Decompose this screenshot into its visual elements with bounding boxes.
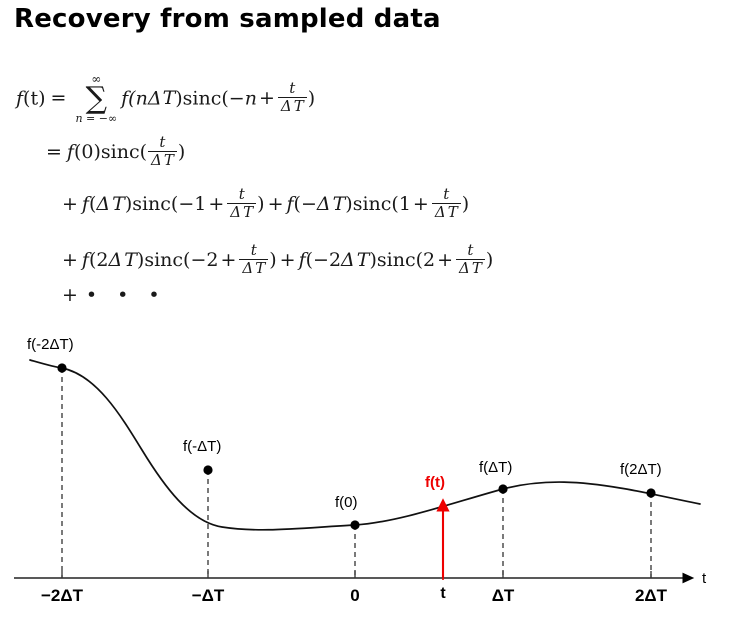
tick-label-t: t xyxy=(418,585,468,603)
formula-line-2: =f(0)sinc( t ΔT ) xyxy=(46,136,185,170)
equals-sign-2: = xyxy=(46,141,62,163)
curve-helper xyxy=(30,360,208,490)
equals-sign: = xyxy=(51,87,67,109)
fraction-t-over-dT: t ΔT xyxy=(278,81,307,115)
formula-line-4: +f(2ΔT)sinc(−2+ t ΔT )+f(−2ΔT)sinc(2+ t … xyxy=(62,244,493,278)
denominator-T: T xyxy=(164,151,174,169)
plus-sign-d: + xyxy=(280,249,296,271)
close-paren-c: ) xyxy=(269,249,276,271)
sinc-open: )sinc( xyxy=(175,87,229,109)
sample-label-2dt: f(2ΔT) xyxy=(620,461,662,478)
fraction-t-over-dT-4a: t ΔT xyxy=(239,243,268,277)
delta-symbol-b: Δ xyxy=(317,193,331,215)
ellipsis: • • • xyxy=(86,284,167,306)
denominator-T: T xyxy=(472,259,482,277)
plus-inner-b: + xyxy=(413,193,429,215)
fraction-numerator: t xyxy=(239,243,268,259)
denominator-T: T xyxy=(448,203,458,221)
plus-inner-c: + xyxy=(220,249,236,271)
sinc-open-c: )sinc( xyxy=(137,249,191,271)
open-paren-d: (−2 xyxy=(306,249,341,271)
close-paren-a: ) xyxy=(257,193,264,215)
fraction-numerator: t xyxy=(432,187,461,203)
sample-label-1dt: f(ΔT) xyxy=(479,459,512,476)
sinc-zero-open: (0)sinc( xyxy=(74,141,147,163)
tick-label-2dt: 2ΔT xyxy=(616,586,686,606)
fraction-t-over-dT-3a: t ΔT xyxy=(227,187,256,221)
plus-inner-d: + xyxy=(437,249,453,271)
sample-point-m1dt xyxy=(203,465,212,474)
f-symbol-d: f xyxy=(299,249,306,271)
fraction-denominator: ΔT xyxy=(432,203,461,221)
close-paren-d: ) xyxy=(486,249,493,271)
signal-recovery-chart: f(-2ΔT) f(-ΔT) f(0) f(ΔT) f(2ΔT) f(t) −2… xyxy=(0,322,740,617)
const-b: 1 xyxy=(399,193,411,215)
plus-sign-e: + xyxy=(62,284,78,306)
tick-label-m2dt: −2ΔT xyxy=(22,586,102,606)
formula-block: f(t)= ∞ ∑ n = −∞ f(nΔT)sinc(−n+ t ΔT ) =… xyxy=(0,58,740,318)
const-d: 2 xyxy=(423,249,435,271)
fraction-denominator: ΔT xyxy=(148,151,177,169)
const-c: −2 xyxy=(190,249,218,271)
sample-point-m2dt xyxy=(57,363,66,372)
formula-line-5: +• • • xyxy=(62,286,167,305)
fraction-denominator: ΔT xyxy=(456,259,485,277)
plus-sign-c: + xyxy=(62,249,78,271)
highlight-label-ft: f(t) xyxy=(425,474,445,491)
plus-inner-a: + xyxy=(208,193,224,215)
denominator-delta: Δ xyxy=(281,97,292,115)
denominator-delta: Δ xyxy=(151,151,162,169)
delta-symbol-a: Δ xyxy=(96,193,110,215)
close-paren-2: ) xyxy=(178,141,185,163)
tick-label-m1dt: −ΔT xyxy=(173,586,243,606)
fraction-denominator: ΔT xyxy=(227,203,256,221)
formula-lhs: f xyxy=(16,87,23,109)
tick-label-0: 0 xyxy=(330,586,380,606)
f-symbol-a: f xyxy=(82,193,89,215)
close-paren: ) xyxy=(308,87,315,109)
open-paren-c: (2 xyxy=(89,249,109,271)
delta-symbol-c: Δ xyxy=(108,249,122,271)
T-symbol: T xyxy=(163,87,176,109)
T-symbol-a: T xyxy=(112,193,125,215)
denominator-delta: Δ xyxy=(242,259,253,277)
fraction-numerator: t xyxy=(456,243,485,259)
fraction-numerator: t xyxy=(148,135,177,151)
T-symbol-c: T xyxy=(124,249,137,271)
denominator-T: T xyxy=(255,259,265,277)
T-symbol-b: T xyxy=(333,193,346,215)
plus-sign: + xyxy=(259,87,275,109)
fraction-numerator: t xyxy=(278,81,307,97)
plus-sign-b: + xyxy=(268,193,284,215)
delta-symbol: Δ xyxy=(148,87,162,109)
summation-symbol: ∞ ∑ n = −∞ xyxy=(75,73,117,124)
close-paren-b: ) xyxy=(462,193,469,215)
delta-symbol-d: Δ xyxy=(341,249,355,271)
sigma-icon: ∑ xyxy=(75,85,117,113)
sample-label-m1dt: f(-ΔT) xyxy=(183,438,221,455)
fraction-numerator: t xyxy=(227,187,256,203)
fraction-t-over-dT-4b: t ΔT xyxy=(456,243,485,277)
page-title: Recovery from sampled data xyxy=(14,4,441,34)
f-symbol-c: f xyxy=(82,249,89,271)
denominator-T: T xyxy=(243,203,253,221)
denominator-T: T xyxy=(294,97,304,115)
waveform-curve xyxy=(30,360,700,530)
fraction-denominator: ΔT xyxy=(278,97,307,115)
sum-lower-limit: n = −∞ xyxy=(75,113,117,124)
sample-label-m2dt: f(-2ΔT) xyxy=(27,336,74,353)
formula-line-1: f(t)= ∞ ∑ n = −∞ f(nΔT)sinc(−n+ t ΔT ) xyxy=(16,74,315,125)
sample-point-0 xyxy=(350,520,359,529)
f-symbol-2: f xyxy=(67,141,74,163)
tick-label-1dt: ΔT xyxy=(473,586,533,606)
f-symbol-b: f xyxy=(286,193,293,215)
sinc-open-b: )sinc( xyxy=(345,193,399,215)
const-a: −1 xyxy=(178,193,206,215)
open-paren-b: (− xyxy=(294,193,317,215)
open-paren-n: (n xyxy=(128,87,148,109)
fraction-denominator: ΔT xyxy=(239,259,268,277)
denominator-delta: Δ xyxy=(230,203,241,221)
sample-label-0: f(0) xyxy=(335,494,358,511)
plus-sign-a: + xyxy=(62,193,78,215)
sample-point-2dt xyxy=(646,488,655,497)
T-symbol-d: T xyxy=(357,249,370,271)
sample-point-1dt xyxy=(498,484,507,493)
fraction-t-over-dT-3b: t ΔT xyxy=(432,187,461,221)
sinc-open-d: )sinc( xyxy=(369,249,423,271)
fraction-t-over-dT-2: t ΔT xyxy=(148,135,177,169)
formula-lhs-arg: (t) xyxy=(23,87,45,109)
minus-n: −n xyxy=(229,87,257,109)
sinc-open-a: )sinc( xyxy=(125,193,179,215)
axis-label-t: t xyxy=(702,570,706,587)
denominator-delta: Δ xyxy=(459,259,470,277)
formula-line-3: +f(ΔT)sinc(−1+ t ΔT )+f(−ΔT)sinc(1+ t ΔT… xyxy=(62,188,469,222)
denominator-delta: Δ xyxy=(435,203,446,221)
